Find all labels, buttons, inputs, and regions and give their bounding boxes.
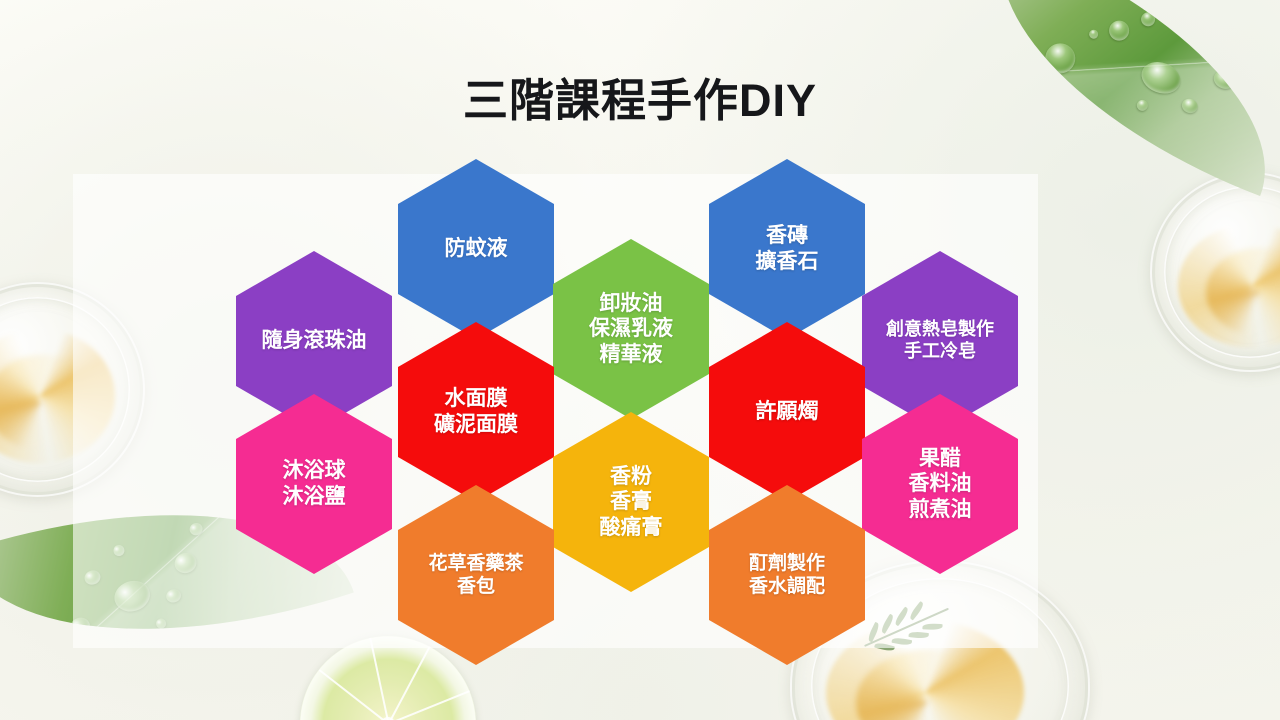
hex-label: 酊劑製作 香水調配 <box>749 552 825 598</box>
hex-mosquito-repellent[interactable]: 防蚊液 <box>398 159 554 339</box>
hex-label: 卸妝油 保濕乳液 精華液 <box>589 291 673 368</box>
hex-tincture[interactable]: 酊劑製作 香水調配 <box>709 485 865 665</box>
hex-powder-balm[interactable]: 香粉 香膏 酸痛膏 <box>553 412 709 592</box>
hex-label: 香磚 擴香石 <box>756 223 819 274</box>
hex-label: 水面膜 礦泥面膜 <box>434 386 518 437</box>
hex-label: 香粉 香膏 酸痛膏 <box>600 464 663 541</box>
hex-fruit-vinegar[interactable]: 果醋 香料油 煎煮油 <box>862 394 1018 574</box>
hex-face-mask[interactable]: 水面膜 礦泥面膜 <box>398 322 554 502</box>
honeycomb-diagram: 隨身滾珠油防蚊液卸妝油 保濕乳液 精華液香磚 擴香石創意熱皂製作 手工冷皂水面膜… <box>0 0 1280 720</box>
hex-label: 沐浴球 沐浴鹽 <box>283 458 346 509</box>
hex-label: 花草香藥茶 香包 <box>428 552 523 598</box>
hex-bath-ball[interactable]: 沐浴球 沐浴鹽 <box>236 394 392 574</box>
hex-label: 果醋 香料油 煎煮油 <box>909 446 972 523</box>
hex-cleansing-oil[interactable]: 卸妝油 保濕乳液 精華液 <box>553 239 709 419</box>
hex-herbal-tea[interactable]: 花草香藥茶 香包 <box>398 485 554 665</box>
hex-wish-candle[interactable]: 許願燭 <box>709 322 865 502</box>
hex-label: 許願燭 <box>756 399 819 425</box>
hex-label: 防蚊液 <box>445 236 508 262</box>
hex-incense-brick[interactable]: 香磚 擴香石 <box>709 159 865 339</box>
hex-label: 隨身滾珠油 <box>262 328 367 354</box>
hex-label: 創意熱皂製作 手工冷皂 <box>886 319 994 363</box>
